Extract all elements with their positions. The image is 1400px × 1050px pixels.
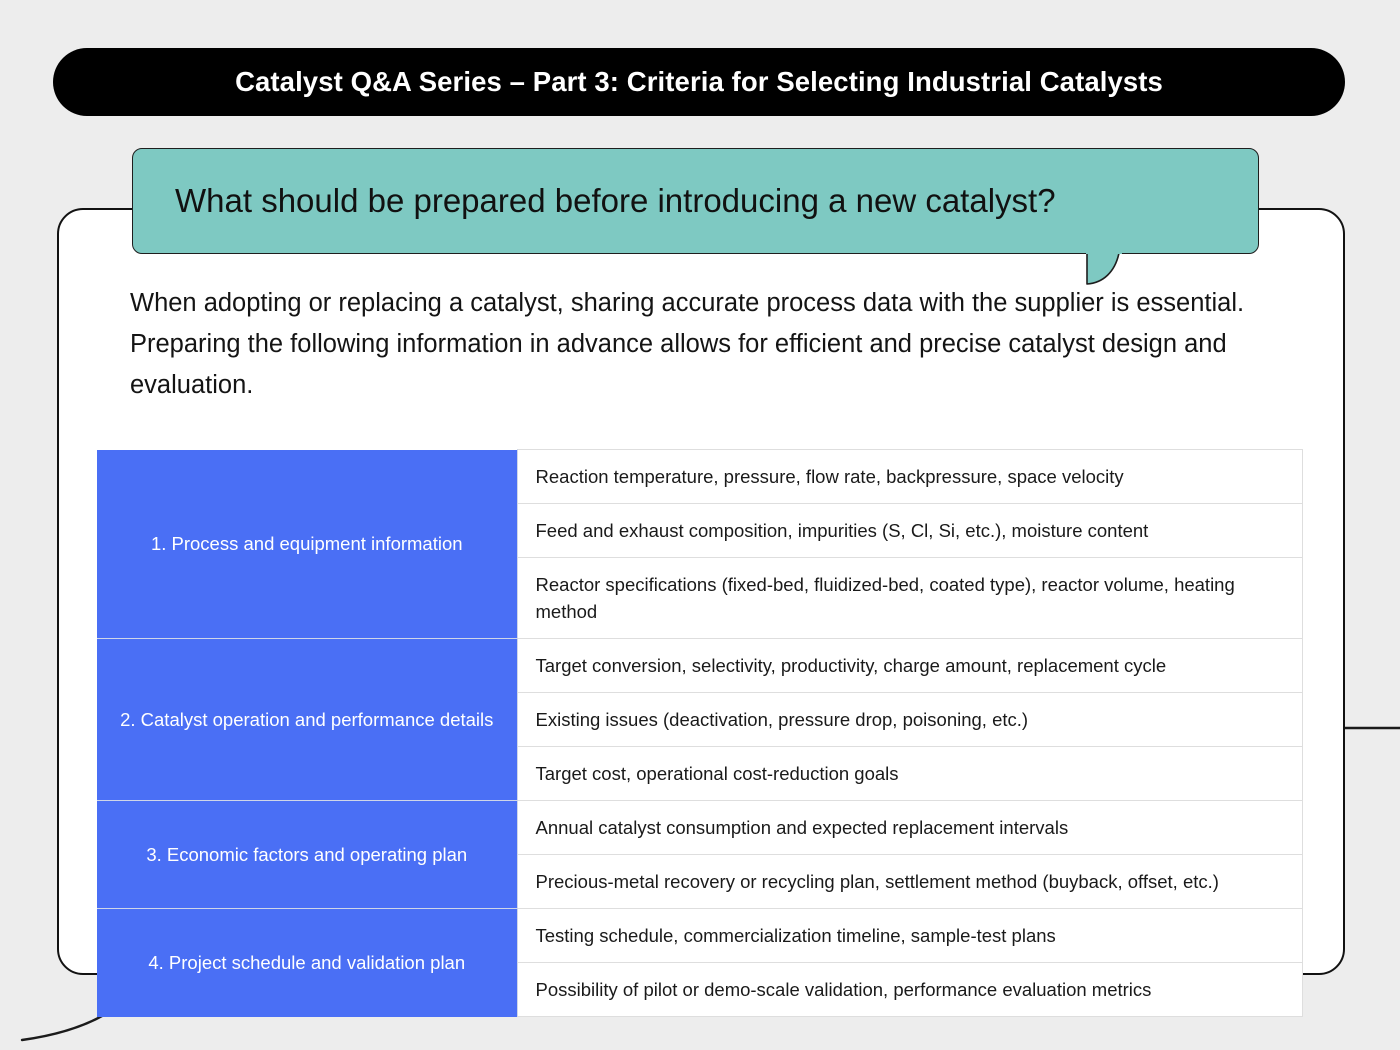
category-label-2: 2. Catalyst operation and performance de… (97, 639, 517, 801)
title-banner: Catalyst Q&A Series – Part 3: Criteria f… (53, 48, 1345, 116)
page-title: Catalyst Q&A Series – Part 3: Criteria f… (235, 66, 1163, 98)
checklist-item: Reaction temperature, pressure, flow rat… (517, 450, 1303, 504)
checklist-item: Testing schedule, commercialization time… (517, 909, 1303, 963)
checklist-item: Target conversion, selectivity, producti… (517, 639, 1303, 693)
slide-canvas: Catalyst Q&A Series – Part 3: Criteria f… (0, 0, 1400, 1050)
category-label-1: 1. Process and equipment information (97, 450, 517, 639)
preparation-checklist-table: 1. Process and equipment informationReac… (97, 449, 1303, 1017)
intro-paragraph: When adopting or replacing a catalyst, s… (130, 283, 1275, 406)
question-speech-bubble: What should be prepared before introduci… (132, 148, 1259, 254)
table-row: 3. Economic factors and operating planAn… (97, 801, 1303, 855)
checklist-item: Possibility of pilot or demo-scale valid… (517, 963, 1303, 1017)
checklist-item: Feed and exhaust composition, impurities… (517, 504, 1303, 558)
table-row: 2. Catalyst operation and performance de… (97, 639, 1303, 693)
question-text: What should be prepared before introduci… (133, 182, 1056, 220)
checklist-item: Reactor specifications (fixed-bed, fluid… (517, 558, 1303, 639)
table-row: 1. Process and equipment informationReac… (97, 450, 1303, 504)
checklist-item: Precious-metal recovery or recycling pla… (517, 855, 1303, 909)
category-label-3: 3. Economic factors and operating plan (97, 801, 517, 909)
category-label-4: 4. Project schedule and validation plan (97, 909, 517, 1017)
checklist-item: Annual catalyst consumption and expected… (517, 801, 1303, 855)
checklist-item: Target cost, operational cost-reduction … (517, 747, 1303, 801)
table-body: 1. Process and equipment informationReac… (97, 450, 1303, 1017)
checklist-item: Existing issues (deactivation, pressure … (517, 693, 1303, 747)
table-row: 4. Project schedule and validation planT… (97, 909, 1303, 963)
speech-bubble-tail-icon (1085, 252, 1145, 288)
